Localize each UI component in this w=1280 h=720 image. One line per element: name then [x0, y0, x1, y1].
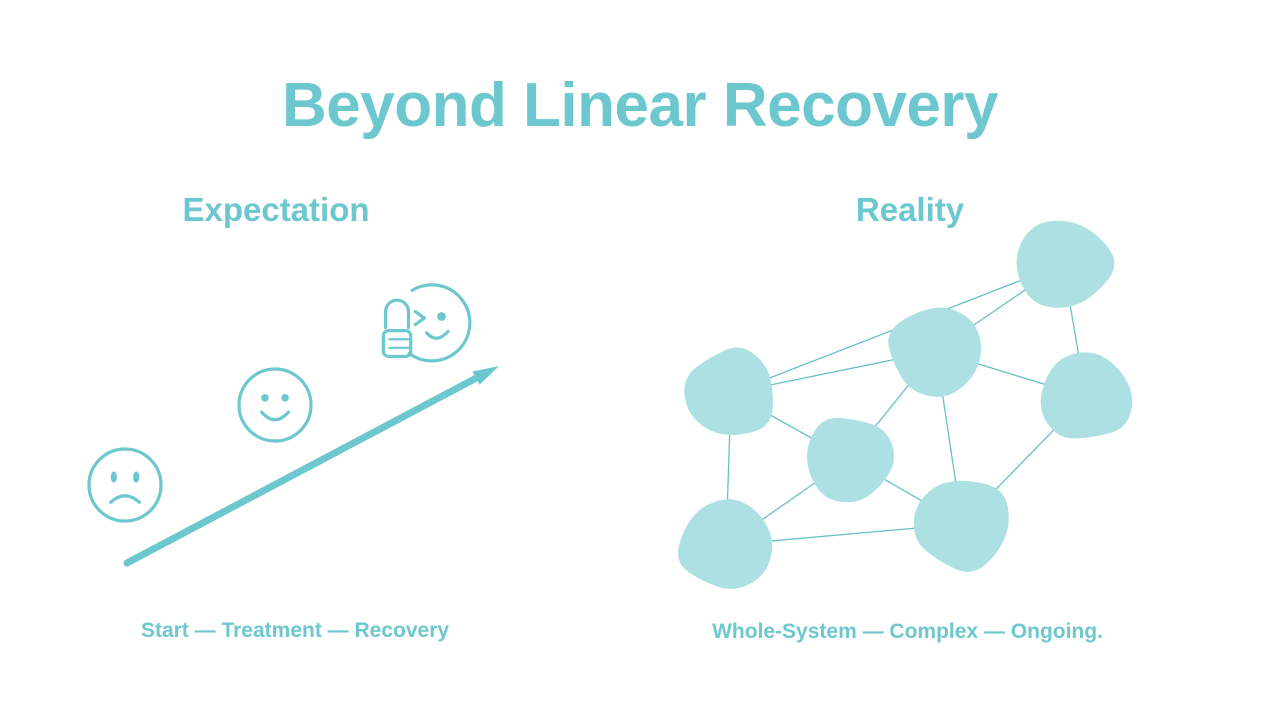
network-node-center[interactable] [807, 418, 894, 502]
network-node-lower-right[interactable] [914, 481, 1009, 572]
eye-wink [415, 312, 424, 325]
network-node-left[interactable] [684, 348, 773, 435]
face-outline [89, 449, 161, 521]
eye-right [437, 312, 446, 321]
winking-face-thumbs-up-icon[interactable] [383, 285, 469, 361]
network-link [726, 524, 962, 545]
network-link [962, 397, 1086, 524]
face-outline [409, 285, 470, 361]
mouth-smile [262, 412, 289, 420]
network-link [936, 351, 1086, 397]
expectation-panel-heading: Expectation [100, 192, 452, 228]
slide-canvas: Beyond Linear Recovery Expectation Reali… [0, 0, 1280, 720]
face-outline [239, 369, 311, 441]
expectation-caption: Start — Treatment — Recovery [60, 618, 530, 643]
network-link [849, 459, 962, 524]
mouth-frown [111, 496, 140, 502]
network-link [726, 459, 849, 545]
upward-trend-arrow [127, 366, 499, 563]
eye-left [111, 472, 117, 483]
arrow-shaft [127, 375, 481, 563]
network-node-group [678, 221, 1132, 589]
network-node-top-right[interactable] [1017, 221, 1115, 308]
reality-panel-heading: Reality [720, 192, 1100, 228]
arrow-head [473, 366, 499, 385]
network-link [1063, 264, 1086, 397]
page-title: Beyond Linear Recovery [0, 72, 1280, 140]
network-link [731, 351, 936, 393]
sad-face-icon[interactable] [89, 449, 161, 521]
eye-left [261, 394, 269, 402]
network-link [731, 264, 1063, 393]
reality-caption: Whole-System — Complex — Ongoing. [640, 619, 1175, 644]
eye-right [133, 472, 139, 483]
network-node-right[interactable] [1041, 352, 1132, 438]
network-link [726, 393, 731, 545]
neutral-happy-face-icon[interactable] [239, 369, 311, 441]
eye-right [281, 394, 289, 402]
network-link [936, 351, 962, 524]
mouth-smile [427, 331, 448, 338]
network-link [936, 264, 1063, 351]
network-link-group [726, 264, 1086, 545]
expectation-face-group [89, 285, 470, 521]
thumb-shape [386, 300, 409, 327]
network-link [731, 393, 849, 459]
fist-shape [383, 331, 410, 357]
network-node-bottom-left[interactable] [678, 499, 772, 589]
network-link [849, 351, 936, 459]
network-node-upper-middle[interactable] [888, 308, 981, 397]
